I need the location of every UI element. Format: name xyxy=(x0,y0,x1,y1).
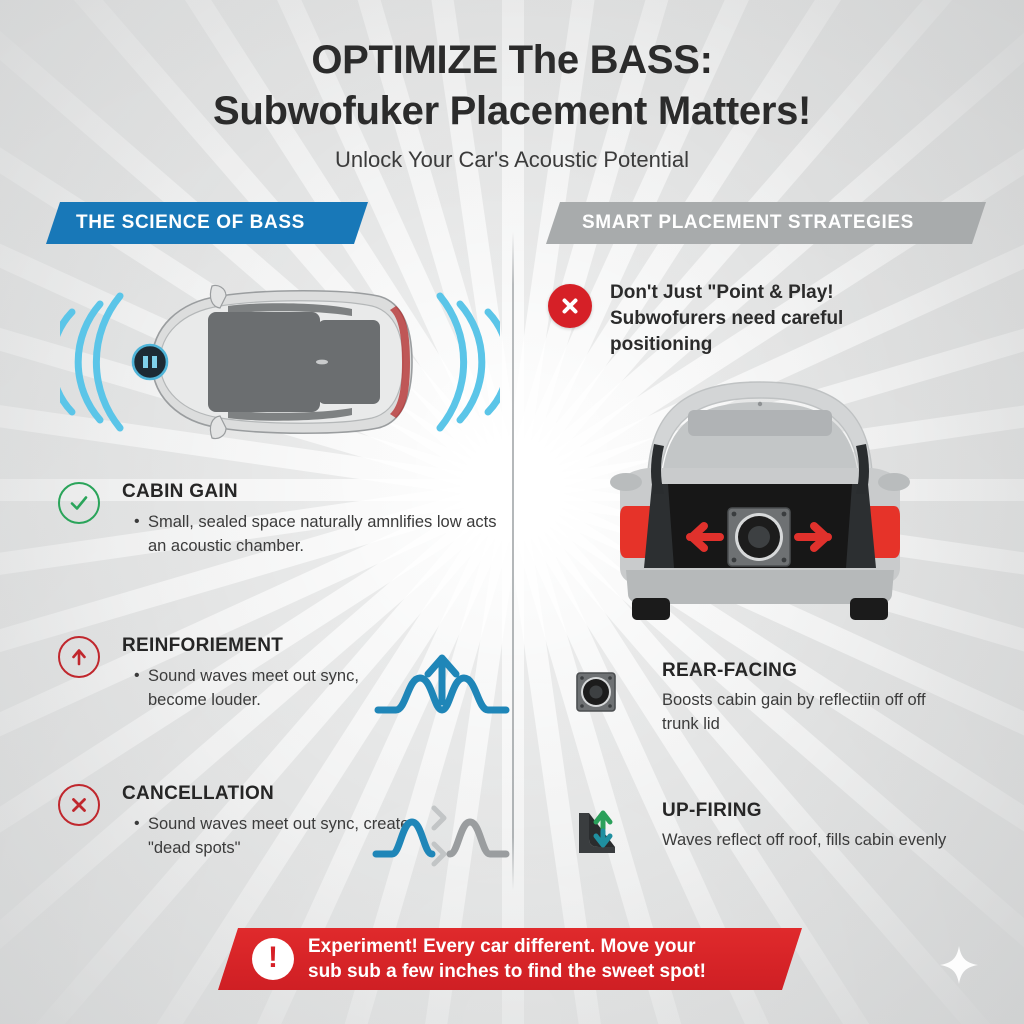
subwoofer-box-icon xyxy=(552,648,640,736)
soundwave-left-arcs xyxy=(60,296,120,428)
up-firing-corner-icon xyxy=(552,788,640,876)
exclamation-circle-icon: ! xyxy=(252,938,294,980)
cta-line-1: Experiment! Every car different. Move yo… xyxy=(308,934,706,959)
section-banner-science-label: THE SCIENCE OF BASS xyxy=(76,212,305,234)
warning-line-3: positioning xyxy=(610,332,950,358)
item-heading: CABIN GAIN xyxy=(122,480,502,504)
item-body: Boosts cabin gain by reflectiin off off … xyxy=(662,688,962,736)
cta-line-2: sub sub a few inches to find the sweet s… xyxy=(308,959,706,984)
soundwave-right-arcs xyxy=(440,296,500,428)
subwoofer-in-trunk-icon xyxy=(728,508,790,566)
column-divider xyxy=(512,232,514,890)
sparkle-star-icon xyxy=(938,944,980,986)
cta-banner: ! Experiment! Every car different. Move … xyxy=(218,928,802,990)
exclamation-glyph: ! xyxy=(268,943,278,973)
destructive-wave-graphic xyxy=(372,798,512,882)
subwoofer-badge-icon xyxy=(133,345,167,379)
item-bullet: Small, sealed space naturally amnlifies … xyxy=(136,510,502,558)
header: OPTIMIZE The BASS: Subwofuker Placement … xyxy=(0,36,1024,174)
top-down-car-soundwaves-illustration xyxy=(60,262,500,462)
item-heading: REAR-FACING xyxy=(662,660,962,682)
page-subtitle: Unlock Your Car's Acoustic Potential xyxy=(0,146,1024,174)
x-circle-filled-icon xyxy=(548,284,592,328)
infographic-canvas: OPTIMIZE The BASS: Subwofuker Placement … xyxy=(0,0,1024,1024)
section-banner-placement-label: SMART PLACEMENT STRATEGIES xyxy=(582,212,914,234)
section-banner-placement: SMART PLACEMENT STRATEGIES xyxy=(546,202,986,244)
warning-line-1: Don't Just "Point & Play! xyxy=(610,280,950,306)
open-trunk-subwoofer-illustration xyxy=(592,372,928,624)
warning-line-2: Subwofurers need careful xyxy=(610,306,950,332)
item-body: Waves reflect off roof, fills cabin even… xyxy=(662,828,962,852)
section-banner-science: THE SCIENCE OF BASS xyxy=(46,202,368,244)
page-title-line2: Subwofuker Placement Matters! xyxy=(0,86,1024,136)
check-circle-icon xyxy=(58,482,100,524)
arrow-up-circle-icon xyxy=(58,636,100,678)
page-title-line1: OPTIMIZE The BASS: xyxy=(0,36,1024,84)
x-circle-icon xyxy=(58,784,100,826)
item-heading: UP-FIRING xyxy=(662,800,962,822)
constructive-wave-graphic xyxy=(372,648,512,728)
car-body-top-view xyxy=(152,285,412,438)
